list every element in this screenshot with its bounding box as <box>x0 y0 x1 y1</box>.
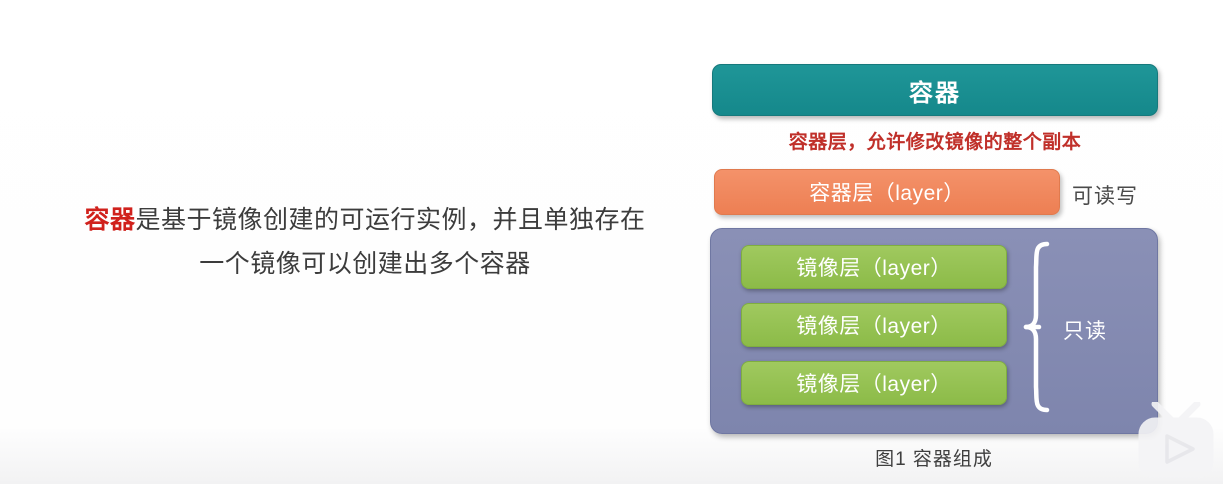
container-layer-box: 容器层（layer） <box>714 169 1060 215</box>
container-header-bar: 容器 <box>712 64 1158 116</box>
image-layers-group: 镜像层（layer） 镜像层（layer） 镜像层（layer） 只读 <box>710 228 1158 434</box>
keyword-highlight: 容器 <box>84 206 135 234</box>
body-text-block: 容器是基于镜像创建的可运行实例，并且单独存在 一个镜像可以创建出多个容器 <box>70 198 660 286</box>
slide-canvas: 容器是基于镜像创建的可运行实例，并且单独存在 一个镜像可以创建出多个容器 容器 … <box>0 0 1223 484</box>
image-layer-3: 镜像层（layer） <box>741 361 1007 405</box>
container-layer-label: 容器层（layer） <box>809 177 965 207</box>
read-write-label: 可读写 <box>1072 180 1138 210</box>
curly-brace-icon <box>1023 241 1059 413</box>
container-composition-diagram: 容器 容器层，允许修改镜像的整个副本 容器层（layer） 可读写 镜像层（la… <box>700 52 1170 472</box>
body-text-line-2: 一个镜像可以创建出多个容器 <box>70 242 660 286</box>
container-layer-note: 容器层，允许修改镜像的整个副本 <box>712 128 1158 158</box>
image-layer-2-label: 镜像层（layer） <box>796 310 952 340</box>
figure-caption: 图1 容器组成 <box>710 444 1158 471</box>
body-text-line-1: 容器是基于镜像创建的可运行实例，并且单独存在 <box>70 198 660 242</box>
image-layer-stack: 镜像层（layer） 镜像层（layer） 镜像层（layer） <box>741 245 1007 405</box>
read-only-label: 只读 <box>1063 315 1107 345</box>
container-header-label: 容器 <box>909 73 961 108</box>
image-layer-2: 镜像层（layer） <box>741 303 1007 347</box>
image-layer-1-label: 镜像层（layer） <box>796 252 952 282</box>
body-text-line-1-rest: 是基于镜像创建的可运行实例，并且单独存在 <box>136 206 646 234</box>
image-layer-1: 镜像层（layer） <box>741 245 1007 289</box>
image-layer-3-label: 镜像层（layer） <box>796 368 952 398</box>
